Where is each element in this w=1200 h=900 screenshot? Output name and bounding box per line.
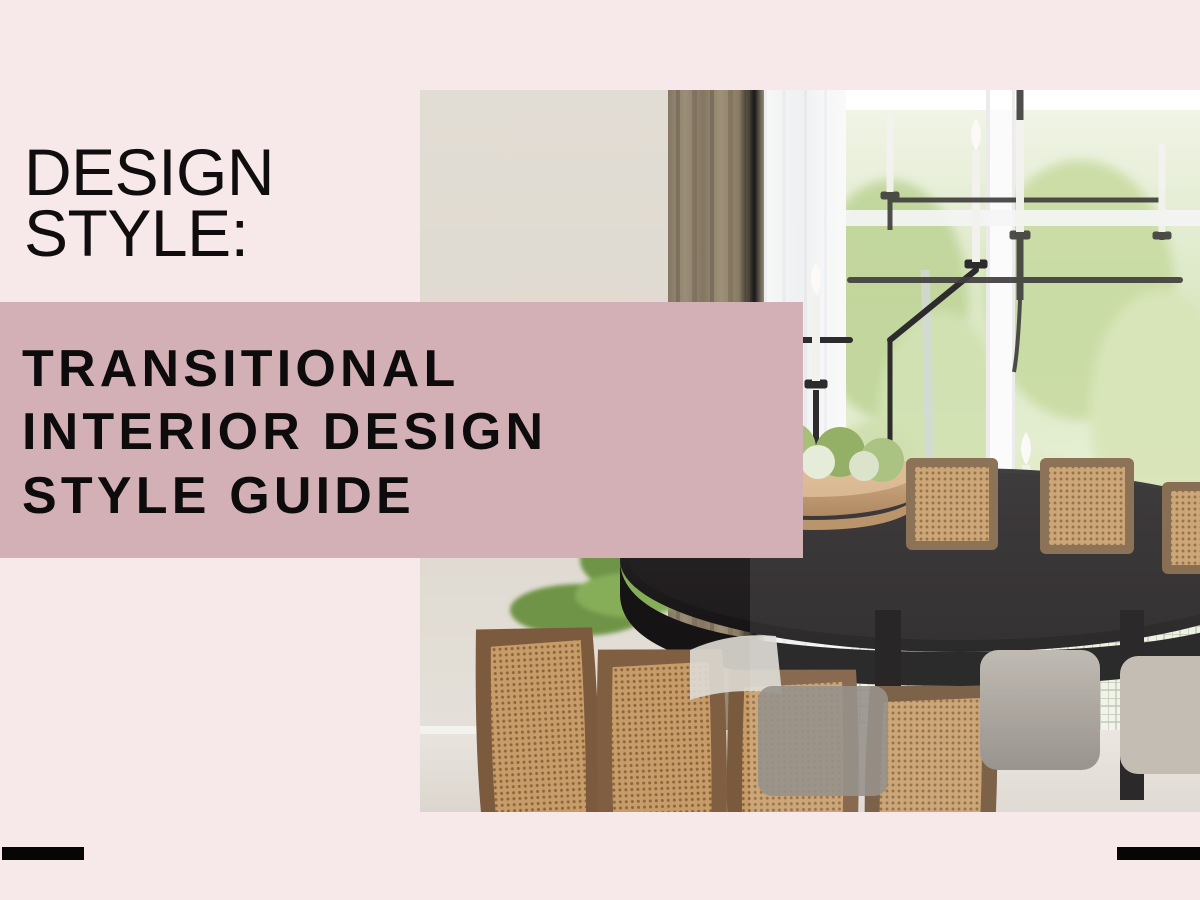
chair [471,623,611,812]
decorative-rule-left [2,847,84,860]
title-banner: TRANSITIONAL INTERIOR DESIGN STYLE GUIDE [0,302,803,558]
poster-canvas: DESIGN STYLE: TRANSITIONAL INTERIOR DESI… [0,0,1200,900]
page-kicker: DESIGN STYLE: [24,142,424,265]
page-title: TRANSITIONAL INTERIOR DESIGN STYLE GUIDE [22,338,782,528]
decorative-rule-right [1117,847,1200,860]
